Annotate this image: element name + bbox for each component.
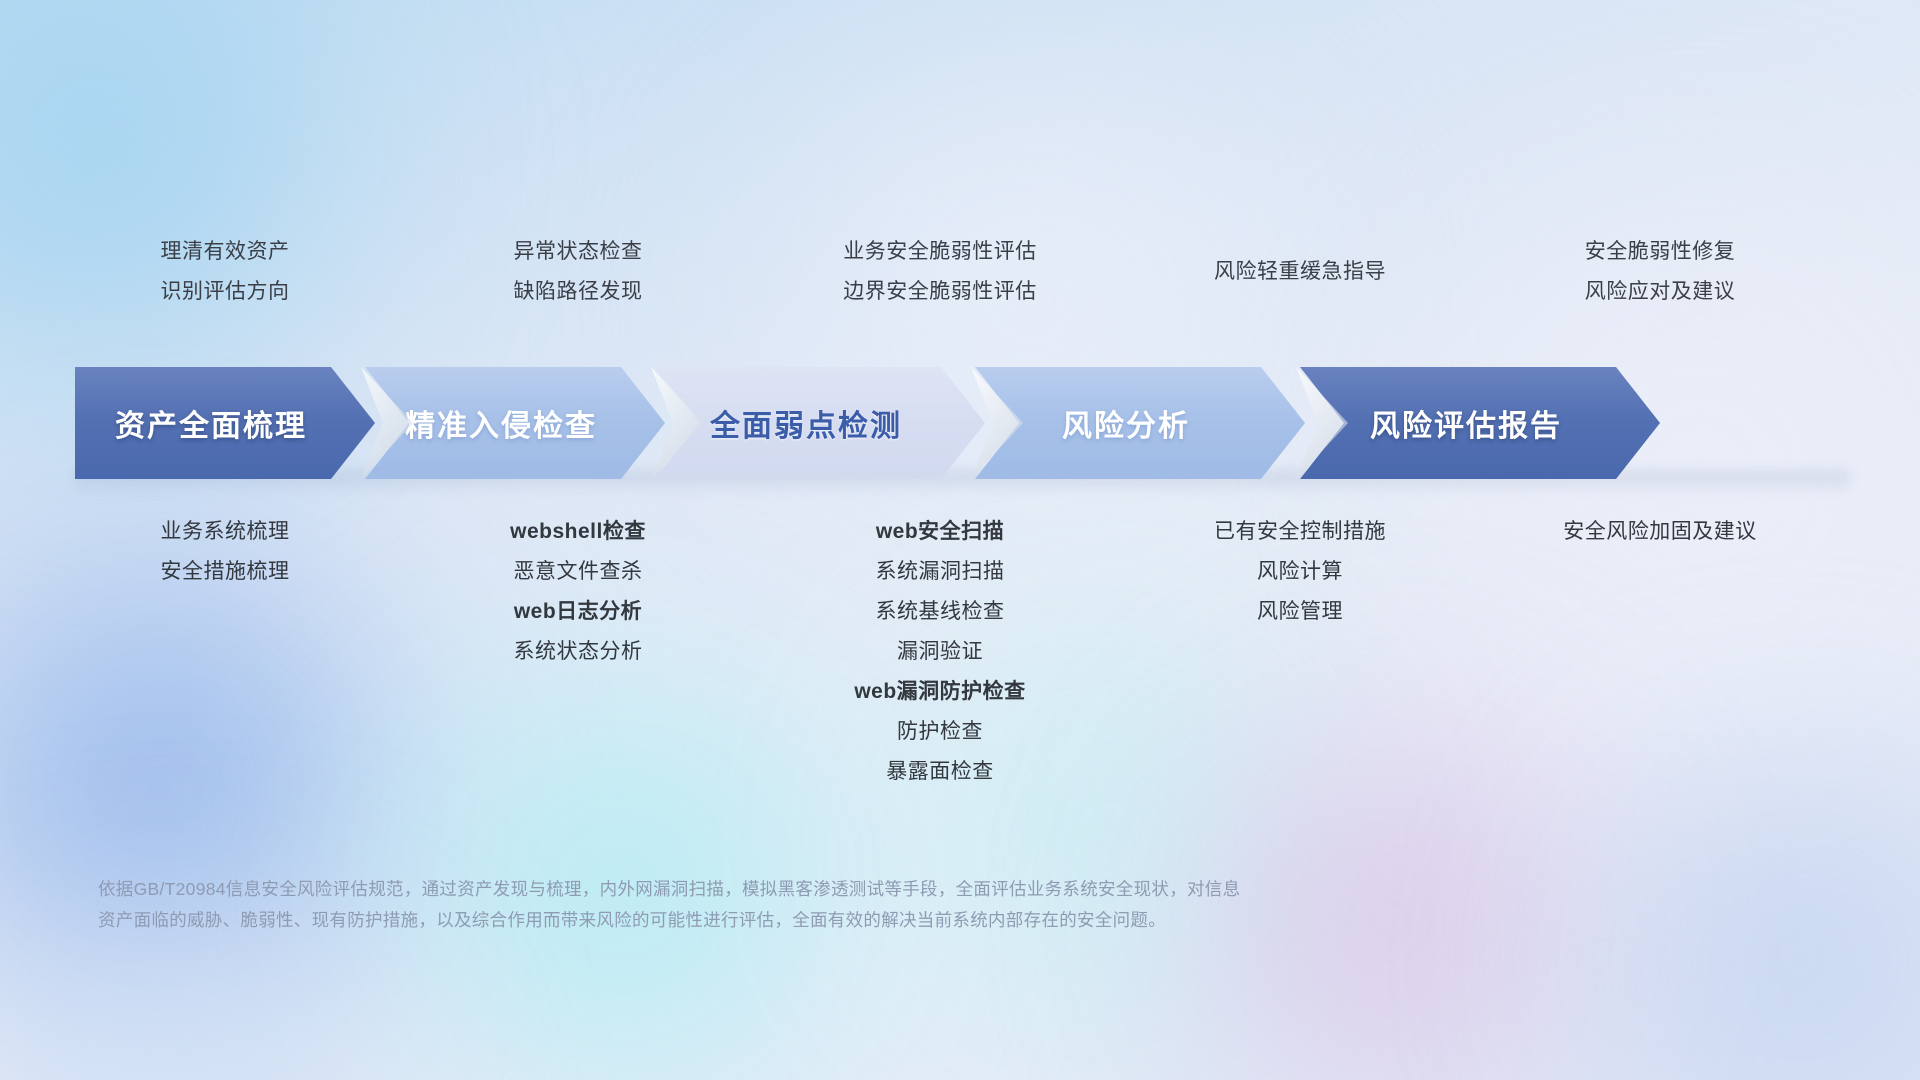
stage-output-item: 系统漏洞扫描 (790, 552, 1090, 592)
stage-outputs-asset-inventory: 业务系统梳理安全措施梳理 (95, 512, 355, 592)
stage-output-item: 风险计算 (1170, 552, 1430, 592)
stage-output-item: 恶意文件查杀 (448, 552, 708, 592)
stage-input-item: 安全脆弱性修复 (1530, 232, 1790, 272)
stage-inputs-risk-report: 安全脆弱性修复风险应对及建议 (1530, 232, 1790, 312)
stage-input-item: 理清有效资产 (95, 232, 355, 272)
stage-arrow-label: 精准入侵检查 (405, 401, 597, 445)
stage-output-item: 业务系统梳理 (95, 512, 355, 552)
stage-arrow-risk-report[interactable]: 风险评估报告 (1300, 367, 1660, 479)
stage-arrow-weakness-detection[interactable]: 全面弱点检测 (655, 367, 985, 479)
stage-output-item: web日志分析 (448, 592, 708, 632)
stage-output-item: web漏洞防护检查 (790, 672, 1090, 712)
stage-arrow-label: 风险分析 (1062, 401, 1190, 445)
stage-input-item: 异常状态检查 (448, 232, 708, 272)
stage-output-item: web安全扫描 (790, 512, 1090, 552)
stage-inputs-weakness-detection: 业务安全脆弱性评估边界安全脆弱性评估 (790, 232, 1090, 312)
stage-arrow-band: 资产全面梳理精准入侵检查全面弱点检测风险分析风险评估报告 (75, 367, 1850, 479)
stage-outputs-weakness-detection: web安全扫描系统漏洞扫描系统基线检查漏洞验证web漏洞防护检查防护检查暴露面检… (790, 512, 1090, 792)
stage-arrow-label: 资产全面梳理 (115, 401, 307, 445)
stage-input-item: 风险轻重缓急指导 (1170, 252, 1430, 292)
footer-line-1: 依据GB/T20984信息安全风险评估规范，通过资产发现与梳理，内外网漏洞扫描，… (98, 874, 1658, 905)
stage-output-item: 系统状态分析 (448, 632, 708, 672)
stage-input-item: 识别评估方向 (95, 272, 355, 312)
stage-inputs-row: 理清有效资产识别评估方向异常状态检查缺陷路径发现业务安全脆弱性评估边界安全脆弱性… (0, 232, 1920, 312)
stage-outputs-row: 业务系统梳理安全措施梳理webshell检查恶意文件查杀web日志分析系统状态分… (0, 512, 1920, 842)
stage-output-item: 防护检查 (790, 712, 1090, 752)
stage-arrow-asset-inventory[interactable]: 资产全面梳理 (75, 367, 375, 479)
stage-outputs-risk-analysis: 已有安全控制措施风险计算风险管理 (1170, 512, 1430, 632)
stage-input-item: 边界安全脆弱性评估 (790, 272, 1090, 312)
stage-input-item: 业务安全脆弱性评估 (790, 232, 1090, 272)
stage-output-item: webshell检查 (448, 512, 708, 552)
stage-inputs-intrusion-check: 异常状态检查缺陷路径发现 (448, 232, 708, 312)
stage-outputs-risk-report: 安全风险加固及建议 (1530, 512, 1790, 552)
stage-output-item: 安全措施梳理 (95, 552, 355, 592)
stage-output-item: 暴露面检查 (790, 752, 1090, 792)
stage-output-item: 安全风险加固及建议 (1530, 512, 1790, 552)
stage-arrow-label: 风险评估报告 (1370, 401, 1562, 445)
footer-description: 依据GB/T20984信息安全风险评估规范，通过资产发现与梳理，内外网漏洞扫描，… (98, 874, 1658, 936)
stage-output-item: 风险管理 (1170, 592, 1430, 632)
stage-output-item: 系统基线检查 (790, 592, 1090, 632)
stage-arrow-label: 全面弱点检测 (710, 401, 902, 445)
stage-input-item: 风险应对及建议 (1530, 272, 1790, 312)
process-flow-infographic: 理清有效资产识别评估方向异常状态检查缺陷路径发现业务安全脆弱性评估边界安全脆弱性… (0, 0, 1920, 1080)
stage-output-item: 漏洞验证 (790, 632, 1090, 672)
stage-input-item: 缺陷路径发现 (448, 272, 708, 312)
stage-output-item: 已有安全控制措施 (1170, 512, 1430, 552)
stage-arrow-risk-analysis[interactable]: 风险分析 (975, 367, 1305, 479)
stage-inputs-risk-analysis: 风险轻重缓急指导 (1170, 232, 1430, 292)
stage-outputs-intrusion-check: webshell检查恶意文件查杀web日志分析系统状态分析 (448, 512, 708, 672)
footer-line-2: 资产面临的威胁、脆弱性、现有防护措施，以及综合作用而带来风险的可能性进行评估，全… (98, 905, 1658, 936)
stage-inputs-asset-inventory: 理清有效资产识别评估方向 (95, 232, 355, 312)
